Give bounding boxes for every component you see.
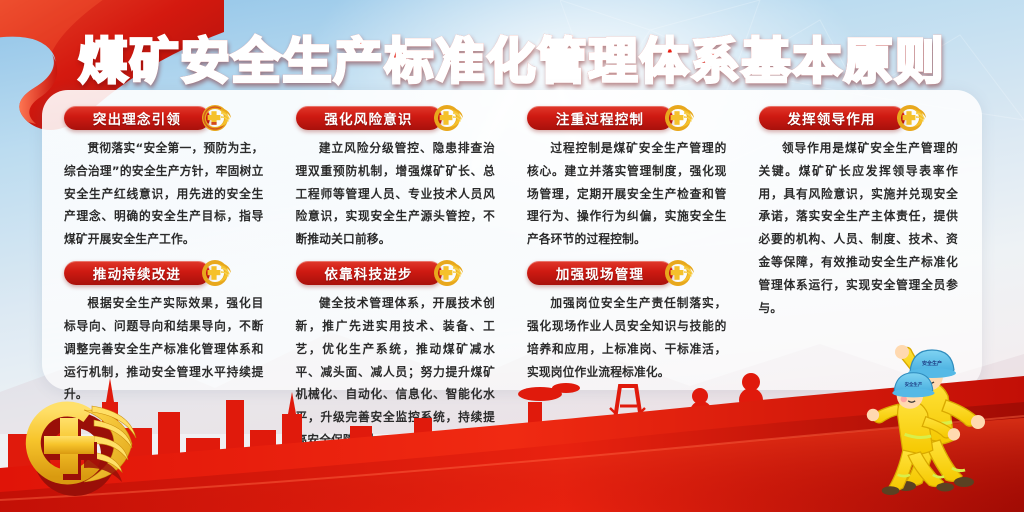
section-badge: 注重过程控制 <box>527 106 727 130</box>
column-1: 突出理念引领 贯彻落实“安全第一，预防为主 <box>42 90 280 390</box>
section-heading-text: 依靠科技进步 <box>324 263 412 283</box>
section-heading-text: 加强现场管理 <box>556 263 644 283</box>
page-title: 煤矿安全生产标准化管理体系基本原则 <box>78 22 945 93</box>
section-badge: 依靠科技进步 <box>296 261 496 285</box>
work-safety-emblem-icon <box>661 105 695 131</box>
section-body: 加强岗位安全生产责任制落实，强化现场作业人员安全知识与技能的培养和应用，上标准岗… <box>527 292 727 383</box>
poster-title-wrap: 煤矿安全生产标准化管理体系基本原则 <box>0 22 1024 93</box>
section-body: 贯彻落实“安全第一，预防为主，综合治理”的安全生产方针，牢固树立安全生产红线意识… <box>64 137 264 251</box>
work-safety-emblem-icon <box>893 105 927 131</box>
section-body: 根据安全生产实际效果，强化目标导向、问题导向和结果导向，不断调整完善安全生产标准… <box>64 292 264 406</box>
section-body: 过程控制是煤矿安全生产管理的核心。建立并落实管理制度，强化现场管理，定期开展安全… <box>527 137 727 251</box>
work-safety-emblem-icon <box>430 105 464 131</box>
work-safety-emblem-icon <box>198 105 232 131</box>
section-heading-pill: 注重过程控制 <box>527 106 673 130</box>
section-heading-text: 发挥领导作用 <box>787 108 875 128</box>
work-safety-emblem-icon <box>430 260 464 286</box>
poster-root: 煤矿安全生产标准化管理体系基本原则 突出理念引领 <box>0 0 1024 512</box>
section-heading-text: 推动持续改进 <box>93 263 181 283</box>
section-badge: 强化风险意识 <box>296 106 496 130</box>
section-badge: 发挥领导作用 <box>759 106 959 130</box>
section-heading-pill: 依靠科技进步 <box>296 261 442 285</box>
section-heading-pill: 发挥领导作用 <box>759 106 905 130</box>
work-safety-emblem-icon <box>198 260 232 286</box>
section-heading-text: 突出理念引领 <box>93 108 181 128</box>
section-badge: 推动持续改进 <box>64 261 264 285</box>
content-columns: 突出理念引领 贯彻落实“安全第一，预防为主 <box>42 90 982 390</box>
column-3: 注重过程控制 过程控制是煤矿安全生产管理的核心。建立并落实管理制度，强化现场管理… <box>511 90 743 390</box>
column-2: 强化风险意识 建立风险分级管控、隐患排查治理双重预防机制，增强煤矿矿长、总工程师… <box>280 90 512 390</box>
work-safety-emblem-large <box>14 394 146 502</box>
column-4: 发挥领导作用 领导作用是煤矿安全生产管理的关键。煤矿矿长应发挥领导表率作用，具有… <box>743 90 983 390</box>
industrial-silhouette <box>470 373 910 494</box>
work-safety-emblem-icon <box>661 260 695 286</box>
section-heading-pill: 突出理念引领 <box>64 106 210 130</box>
section-body: 健全技术管理体系，开展技术创新，推广先进实用技术、装备、工艺，优化生产系统，推动… <box>296 292 496 452</box>
section-heading-pill: 加强现场管理 <box>527 261 673 285</box>
section-badge: 突出理念引领 <box>64 106 264 130</box>
section-heading-text: 强化风险意识 <box>324 108 412 128</box>
section-heading-pill: 强化风险意识 <box>296 106 442 130</box>
worker-front: 安全生产 <box>867 373 960 495</box>
section-body: 建立风险分级管控、隐患排查治理双重预防机制，增强煤矿矿长、总工程师等管理人员、专… <box>296 137 496 251</box>
section-heading-text: 注重过程控制 <box>556 108 644 128</box>
section-badge: 加强现场管理 <box>527 261 727 285</box>
section-body: 领导作用是煤矿安全生产管理的关键。煤矿矿长应发挥领导表率作用，具有风险意识，实施… <box>759 137 959 320</box>
section-heading-pill: 推动持续改进 <box>64 261 210 285</box>
